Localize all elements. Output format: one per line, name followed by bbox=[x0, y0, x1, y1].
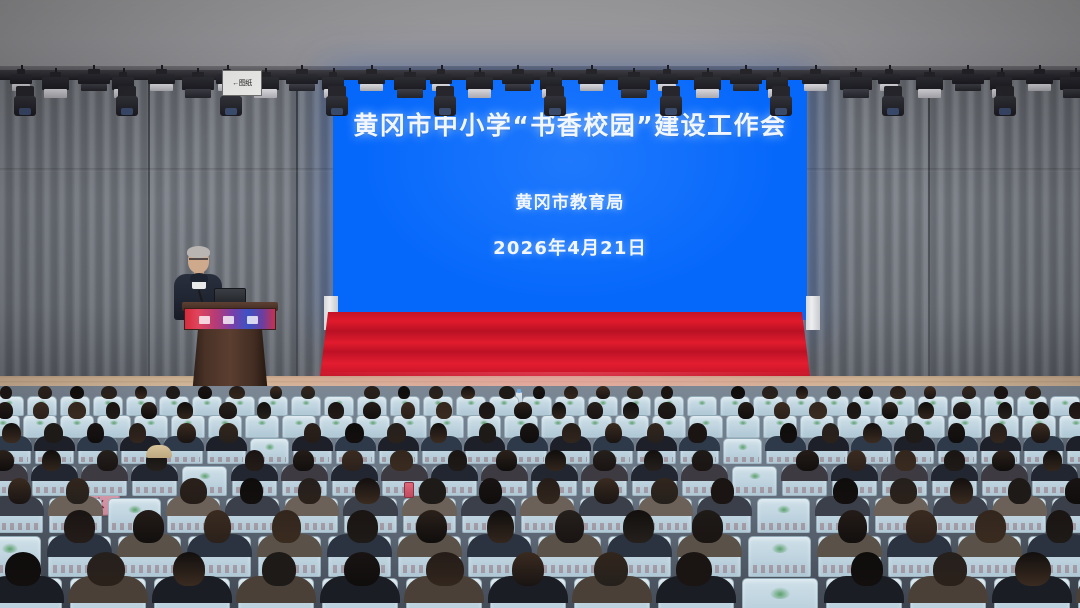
stage-light-fixture bbox=[802, 74, 829, 91]
audience-person-head bbox=[68, 402, 86, 419]
audience-person-head bbox=[42, 450, 61, 470]
stage-light-fixture bbox=[1026, 74, 1053, 91]
audience-person-head bbox=[552, 402, 566, 419]
lamp-lens bbox=[621, 89, 648, 98]
seat-logo-icon bbox=[566, 400, 574, 405]
audience-person-head bbox=[847, 450, 866, 470]
audience-person-head bbox=[895, 450, 915, 470]
audience-person-head bbox=[882, 402, 897, 419]
audience-person-head bbox=[796, 386, 809, 399]
stage-light-fixture bbox=[182, 77, 214, 98]
lamp-lens bbox=[804, 84, 827, 91]
audience-person-head bbox=[44, 423, 64, 443]
seat-logo-icon bbox=[269, 400, 277, 405]
seat-printed-slogan bbox=[136, 487, 174, 493]
moving-head-light bbox=[660, 86, 682, 116]
seat-printed-slogan bbox=[230, 523, 275, 530]
audience-seat bbox=[757, 498, 810, 533]
audience-person-head bbox=[272, 510, 300, 543]
audience-seat bbox=[742, 578, 818, 608]
stage-light-fixture bbox=[952, 74, 984, 91]
audience-person-head bbox=[950, 478, 972, 504]
audience-person-head bbox=[479, 423, 496, 443]
audience-person-head bbox=[270, 386, 283, 399]
audience-person-head bbox=[293, 450, 313, 470]
moving-head-lens bbox=[439, 108, 451, 115]
moving-head-light bbox=[544, 86, 566, 116]
lamp-lens bbox=[843, 89, 870, 98]
audience-person-head bbox=[692, 450, 712, 470]
lamp-body bbox=[730, 74, 762, 84]
audience-person-head bbox=[0, 450, 14, 470]
audience-person-head bbox=[387, 423, 407, 443]
audience-person-head bbox=[496, 450, 516, 470]
seat-logo-icon bbox=[1072, 420, 1080, 425]
seat-logo-icon bbox=[500, 400, 508, 405]
seat-printed-slogan bbox=[86, 487, 124, 493]
podium-front-banner bbox=[184, 308, 276, 330]
audience-person-head bbox=[564, 386, 578, 399]
seat-logo-icon bbox=[863, 400, 871, 405]
moving-head-light bbox=[882, 86, 904, 116]
audience-person-head bbox=[890, 386, 905, 399]
seat-logo-icon bbox=[830, 400, 838, 405]
audience-person-head bbox=[135, 386, 148, 399]
audience-person-head bbox=[658, 402, 676, 419]
lamp-lens bbox=[468, 89, 491, 98]
audience-person-head bbox=[0, 386, 12, 399]
audience-person-head bbox=[1046, 510, 1072, 543]
stage-curtain-right bbox=[804, 76, 1080, 382]
seat-logo-icon bbox=[771, 543, 788, 553]
audience-person-head bbox=[890, 478, 917, 504]
curtain-seam bbox=[148, 76, 150, 382]
audience-person-head bbox=[141, 402, 156, 419]
lamp-body bbox=[358, 74, 385, 84]
stage-light-fixture bbox=[618, 77, 650, 98]
audience-person-head bbox=[419, 478, 446, 504]
audience-person-head bbox=[762, 386, 777, 399]
audience-person-head bbox=[562, 423, 582, 443]
audience-person-head bbox=[994, 386, 1009, 399]
audience-person-head bbox=[64, 510, 94, 543]
audience-person-head bbox=[953, 402, 971, 419]
seat-logo-icon bbox=[896, 400, 904, 405]
stage-light-fixture bbox=[286, 74, 318, 91]
seat-logo-icon bbox=[73, 420, 82, 425]
seat-printed-slogan bbox=[963, 565, 1017, 573]
audience-person-head bbox=[129, 423, 146, 443]
audience-person-head bbox=[436, 402, 451, 419]
audience-person-head bbox=[623, 402, 639, 419]
audience-person-head bbox=[851, 552, 882, 586]
stage-light-fixture bbox=[916, 77, 943, 98]
audience-person-head bbox=[605, 423, 621, 443]
audience-person-head bbox=[328, 402, 344, 419]
audience-person-head bbox=[933, 552, 967, 586]
audience-person-head bbox=[594, 478, 619, 504]
seat-logo-icon bbox=[737, 443, 747, 449]
seat-logo-icon bbox=[628, 420, 637, 425]
lamp-body bbox=[10, 74, 32, 84]
audience-person-head bbox=[962, 386, 976, 399]
moving-head-light bbox=[434, 86, 456, 116]
stage-light-fixture bbox=[578, 74, 605, 91]
moving-head-lens bbox=[665, 108, 677, 115]
audience-person-head bbox=[594, 552, 628, 586]
screen-title: 黄冈市中小学“书香校园”建设工作会 bbox=[333, 106, 807, 142]
seat-logo-icon bbox=[467, 400, 475, 405]
audience-person-head bbox=[1025, 386, 1040, 399]
audience-person-head bbox=[8, 478, 30, 504]
audience-person-head bbox=[738, 402, 753, 419]
seat-logo-icon bbox=[110, 420, 119, 425]
audience-person-head bbox=[847, 402, 861, 419]
podium-banner-text-block bbox=[247, 316, 258, 324]
audience-person-head bbox=[906, 510, 936, 543]
audience-person-head bbox=[38, 386, 52, 399]
audience-person-head bbox=[587, 402, 602, 419]
audience-person-head bbox=[342, 450, 363, 470]
audience-person-head bbox=[229, 386, 244, 399]
lamp-lens bbox=[81, 84, 108, 91]
lamp-lens bbox=[397, 89, 424, 98]
moving-head-lens bbox=[121, 108, 133, 115]
lamp-lens bbox=[289, 84, 316, 91]
audience-person-head bbox=[416, 510, 448, 543]
stage-light-fixture bbox=[730, 74, 762, 91]
stage-light-fixture bbox=[394, 77, 426, 98]
lamp-body bbox=[430, 74, 452, 84]
beige-cap bbox=[146, 445, 172, 458]
audience-person-head bbox=[5, 552, 41, 586]
seat-logo-icon bbox=[332, 420, 341, 425]
podium bbox=[170, 250, 290, 396]
audience-person-head bbox=[177, 423, 195, 443]
moving-head-light bbox=[14, 86, 36, 116]
lamp-lens bbox=[1063, 89, 1080, 98]
stage-light-fixture bbox=[466, 77, 493, 98]
audience-person-head bbox=[692, 510, 724, 543]
lamp-body bbox=[694, 77, 721, 90]
seat-printed-slogan bbox=[210, 457, 243, 462]
audience-person-head bbox=[1008, 478, 1032, 504]
audience-person-head bbox=[204, 510, 230, 543]
audience-person-head bbox=[774, 402, 790, 419]
audience-seat bbox=[192, 396, 222, 416]
audience-person-head bbox=[166, 386, 180, 399]
audience-person-head bbox=[133, 510, 165, 543]
curtain-seam bbox=[928, 76, 930, 382]
moving-head-light bbox=[116, 86, 138, 116]
curtain-seam bbox=[296, 76, 298, 382]
audience-person-head bbox=[430, 423, 446, 443]
audience-person-head bbox=[533, 386, 546, 399]
seat-printed-slogan bbox=[167, 457, 200, 462]
audience-person-head bbox=[990, 423, 1007, 443]
audience-person-head bbox=[429, 386, 443, 399]
podium-banner-text-block bbox=[223, 316, 234, 324]
seat-logo-icon bbox=[1061, 400, 1069, 405]
audience-person-head bbox=[426, 552, 464, 586]
stage-light-fixture bbox=[42, 77, 69, 98]
audience-person-head bbox=[512, 552, 543, 586]
moving-head-lens bbox=[775, 108, 787, 115]
audience-person-head bbox=[555, 510, 583, 543]
seat-printed-slogan bbox=[786, 487, 824, 493]
lamp-body bbox=[78, 74, 110, 84]
led-presentation-screen: 黄冈市中小学“书香校园”建设工作会 黄冈市教育局 2026年4月21日 bbox=[333, 76, 807, 320]
lamp-lens bbox=[1028, 84, 1051, 91]
audience-person-head bbox=[992, 450, 1015, 470]
lamp-lens bbox=[44, 89, 67, 98]
seat-logo-icon bbox=[748, 472, 760, 479]
seat-printed-slogan bbox=[543, 565, 597, 573]
audience-person-shoulders bbox=[1066, 436, 1080, 450]
seat-logo-icon bbox=[264, 443, 274, 449]
audience-person-head bbox=[514, 402, 532, 419]
audience-person-head bbox=[499, 386, 514, 399]
audience-person-head bbox=[661, 386, 674, 399]
audience-person-head bbox=[1069, 402, 1080, 419]
lamp-lens bbox=[580, 84, 603, 91]
audience-person-head bbox=[623, 510, 653, 543]
lamp-body bbox=[394, 77, 426, 90]
seat-logo-icon bbox=[406, 420, 415, 425]
auditorium-scene: 黄冈市中小学“书香校园”建设工作会 黄冈市教育局 2026年4月21日 ←图纸 bbox=[0, 0, 1080, 608]
audience-seat bbox=[732, 466, 777, 496]
seat-printed-slogan bbox=[1070, 457, 1080, 462]
audience-person-head bbox=[1065, 478, 1080, 504]
stage-light-fixture bbox=[840, 77, 872, 98]
seat-logo-icon bbox=[533, 400, 541, 405]
raised-phone bbox=[404, 482, 414, 498]
audience-person-head bbox=[355, 478, 380, 504]
moving-head-light bbox=[326, 86, 348, 116]
seat-logo-icon bbox=[770, 587, 791, 599]
audience-person-head bbox=[644, 450, 663, 470]
audience-person-head bbox=[1043, 450, 1062, 470]
lamp-lens bbox=[185, 89, 212, 98]
audience-seat bbox=[687, 396, 717, 416]
audience-person-head bbox=[1015, 552, 1051, 586]
seat-logo-icon bbox=[797, 400, 805, 405]
seat-logo-icon bbox=[554, 420, 563, 425]
audience-person-head bbox=[975, 510, 1007, 543]
audience-person-head bbox=[70, 386, 85, 399]
audience-person-head bbox=[924, 386, 937, 399]
curtain-band bbox=[804, 168, 1080, 172]
audience-person-head bbox=[219, 423, 239, 443]
seat-logo-icon bbox=[258, 420, 267, 425]
seat-logo-icon bbox=[813, 420, 822, 425]
moving-head-lens bbox=[331, 108, 343, 115]
seat-logo-icon bbox=[764, 400, 772, 405]
screen-organization: 黄冈市教育局 bbox=[333, 188, 807, 213]
audience-seat bbox=[748, 536, 811, 577]
audience-person-head bbox=[651, 478, 678, 504]
audience-person-head bbox=[809, 402, 827, 419]
stage-light-fixture bbox=[502, 74, 534, 91]
stage-light-fixture bbox=[358, 74, 385, 91]
audience-person-head bbox=[448, 450, 467, 470]
moving-head-lens bbox=[999, 108, 1011, 115]
ceiling bbox=[0, 0, 1080, 72]
seat-logo-icon bbox=[887, 420, 896, 425]
audience-person-head bbox=[33, 402, 49, 419]
lamp-lens bbox=[360, 84, 383, 91]
lamp-body bbox=[148, 74, 175, 84]
lamp-body bbox=[286, 74, 318, 84]
seat-printed-slogan bbox=[726, 457, 759, 462]
stage-light-fixture bbox=[1060, 77, 1080, 98]
audience-person-head bbox=[298, 478, 322, 504]
seat-logo-icon bbox=[198, 472, 210, 479]
lamp-body bbox=[802, 74, 829, 84]
audience-person-head bbox=[537, 478, 561, 504]
seat-logo-icon bbox=[924, 420, 933, 425]
moving-head-lens bbox=[19, 108, 31, 115]
moving-head-lens bbox=[887, 108, 899, 115]
audience-person-head bbox=[344, 552, 380, 586]
moving-head-lens bbox=[225, 108, 237, 115]
audience-person-head bbox=[101, 386, 116, 399]
curtain-band bbox=[0, 168, 336, 172]
audience-person-head bbox=[347, 510, 377, 543]
audience-person-head bbox=[863, 423, 881, 443]
seat-logo-icon bbox=[36, 420, 45, 425]
audience-person-head bbox=[520, 423, 538, 443]
audience-seat bbox=[291, 396, 321, 416]
audience-person-head bbox=[180, 478, 207, 504]
audience-person-head bbox=[390, 450, 413, 470]
audience-person-head bbox=[304, 423, 321, 443]
lamp-lens bbox=[733, 84, 760, 91]
seat-logo-icon bbox=[170, 400, 178, 405]
seat-logo-icon bbox=[850, 420, 859, 425]
audience-person-head bbox=[240, 478, 262, 504]
seat-logo-icon bbox=[731, 400, 739, 405]
seat-printed-slogan bbox=[736, 487, 774, 493]
lamp-body bbox=[502, 74, 534, 84]
lamp-body bbox=[466, 77, 493, 90]
audience-person-head bbox=[1033, 402, 1048, 419]
seat-printed-slogan bbox=[584, 523, 629, 530]
lamp-body bbox=[42, 77, 69, 90]
audience-person-head bbox=[948, 423, 964, 443]
audience-person-head bbox=[461, 386, 476, 399]
audience-person-head bbox=[87, 423, 103, 443]
audience-person-head bbox=[0, 402, 13, 419]
audience-person-head bbox=[688, 423, 706, 443]
stage-light-fixture bbox=[148, 74, 175, 91]
audience-person-head bbox=[593, 450, 616, 470]
podium-banner-text-block bbox=[199, 316, 210, 324]
lamp-lens bbox=[505, 84, 532, 91]
seat-logo-icon bbox=[369, 420, 378, 425]
seat-printed-slogan bbox=[0, 523, 39, 530]
lamp-lens bbox=[150, 84, 173, 91]
seat-logo-icon bbox=[295, 420, 304, 425]
audience-person-head bbox=[545, 450, 566, 470]
audience-person-head bbox=[944, 450, 965, 470]
seat-logo-icon bbox=[302, 400, 310, 405]
audience-person-head bbox=[998, 402, 1012, 419]
audience-person-head bbox=[822, 423, 839, 443]
audience-person-head bbox=[796, 450, 819, 470]
audience-person-head bbox=[363, 402, 381, 419]
audience-person-head bbox=[676, 552, 712, 586]
lamp-body bbox=[656, 74, 678, 84]
audience-person-head bbox=[245, 450, 264, 470]
audience-person-head bbox=[487, 510, 513, 543]
audience-person-head bbox=[838, 510, 866, 543]
audience-person-head bbox=[97, 450, 117, 470]
audience-person-head bbox=[345, 423, 363, 443]
seat-printed-slogan bbox=[761, 523, 806, 530]
lamp-body bbox=[578, 74, 605, 84]
seat-logo-icon bbox=[776, 505, 790, 514]
audience-person-head bbox=[479, 478, 501, 504]
red-carpet-riser bbox=[320, 312, 810, 376]
screen-pillar-right bbox=[806, 296, 820, 330]
audience-person-head bbox=[827, 386, 841, 399]
seat-printed-slogan bbox=[123, 565, 177, 573]
audience-person-head bbox=[398, 386, 411, 399]
lamp-body bbox=[878, 74, 900, 84]
audience-person-head bbox=[627, 386, 642, 399]
truss-direction-sign: ←图纸 bbox=[222, 70, 262, 96]
audience-person-head bbox=[859, 386, 874, 399]
audience-person-head bbox=[905, 423, 925, 443]
moving-head-light bbox=[994, 86, 1016, 116]
audience-person-head bbox=[647, 423, 664, 443]
audience-person-head bbox=[833, 478, 858, 504]
lamp-body bbox=[840, 77, 872, 90]
seat-printed-slogan bbox=[753, 565, 807, 573]
lamp-body bbox=[916, 77, 943, 90]
audience-person-head bbox=[1031, 423, 1049, 443]
seat-logo-icon bbox=[698, 400, 706, 405]
audience-person-head bbox=[364, 386, 379, 399]
lamp-lens bbox=[955, 84, 982, 91]
lamp-body bbox=[1060, 77, 1080, 90]
audience-person-head bbox=[106, 402, 120, 419]
lamp-lens bbox=[696, 89, 719, 98]
audience-person-head bbox=[780, 423, 796, 443]
moving-head-light bbox=[770, 86, 792, 116]
audience-person-head bbox=[66, 478, 90, 504]
lamp-body bbox=[1026, 74, 1053, 84]
stage-light-fixture bbox=[78, 74, 110, 91]
audience-person-head bbox=[87, 552, 125, 586]
audience-person-head bbox=[198, 386, 213, 399]
seat-logo-icon bbox=[739, 420, 748, 425]
audience-person-head bbox=[918, 402, 934, 419]
audience-person-head bbox=[479, 402, 495, 419]
audience-seat bbox=[723, 438, 762, 464]
audience-person-head bbox=[401, 402, 415, 419]
audience-person-head bbox=[173, 552, 204, 586]
seat-logo-icon bbox=[236, 400, 244, 405]
audience-area: 刘冰 bbox=[0, 386, 1080, 608]
audience-person-head bbox=[596, 386, 611, 399]
seat-logo-icon bbox=[147, 420, 156, 425]
stage-light-fixture bbox=[694, 77, 721, 98]
seat-logo-icon bbox=[203, 400, 211, 405]
seat-logo-icon bbox=[591, 420, 600, 425]
moving-head-lens bbox=[549, 108, 561, 115]
